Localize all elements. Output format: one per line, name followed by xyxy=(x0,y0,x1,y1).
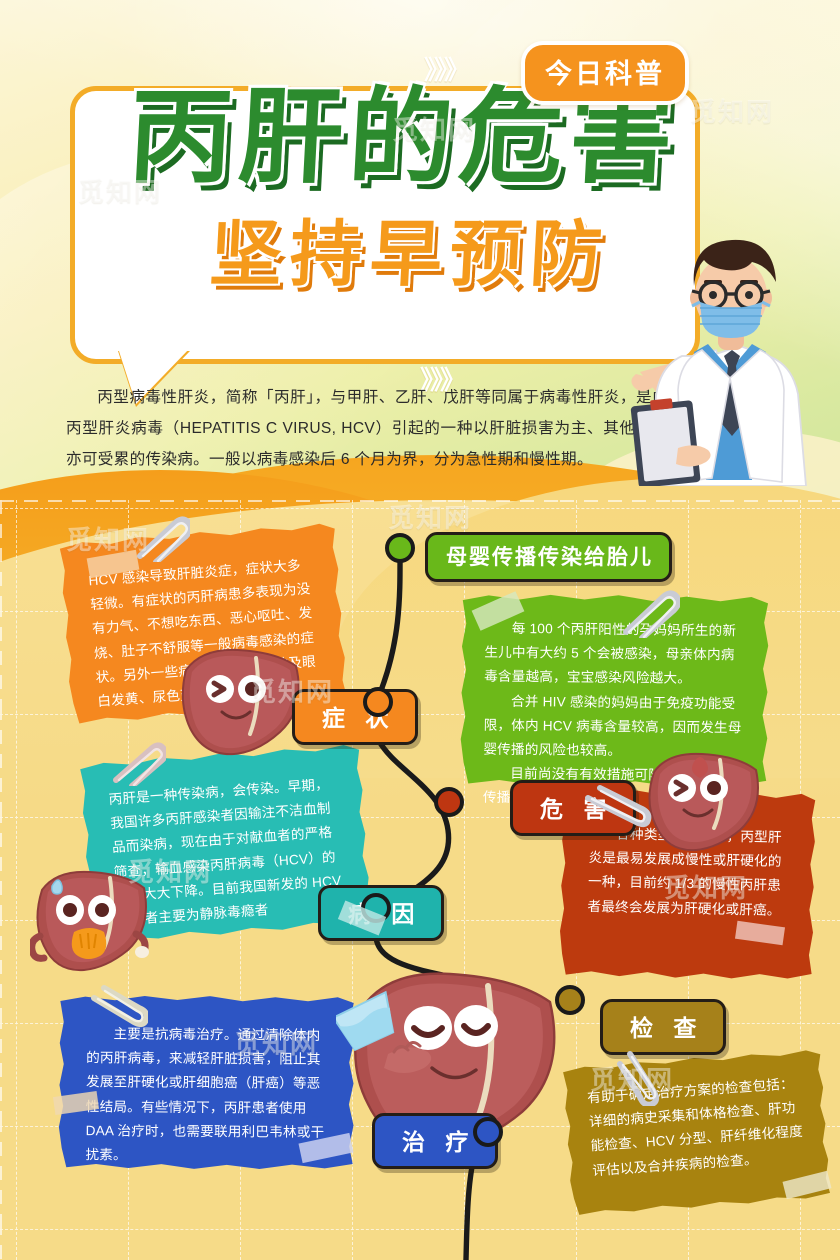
paperclip-icon-examination xyxy=(614,1048,666,1106)
paperclip-icon-cause xyxy=(108,742,166,786)
liver-mascot-smiling xyxy=(172,636,308,762)
paperclip-icon-symptom xyxy=(130,516,190,562)
chip-mtct[interactable]: 母婴传播传染给胎儿 xyxy=(425,532,672,582)
today-science-badge[interactable]: 今日科普 xyxy=(521,41,689,105)
page-subtitle: 坚持早预防 xyxy=(128,218,692,294)
liver-mascot-drinking xyxy=(336,962,584,1132)
poster-root: 》》》 今日科普 丙肝的危害 坚持早预防 》》》 丙型病毒性肝炎，简称「丙肝」，… xyxy=(0,0,840,1260)
liver-mascot-harm xyxy=(642,742,764,858)
chip-cause[interactable]: 病 因 xyxy=(318,885,444,941)
liver-mascot-gourd xyxy=(30,862,152,980)
chip-treatment[interactable]: 治 疗 xyxy=(372,1113,498,1169)
doctor-illustration xyxy=(620,224,840,486)
paperclip-icon-mtct xyxy=(618,590,680,638)
chip-symptom[interactable]: 症 状 xyxy=(292,689,418,745)
section-treatment-text: 主要是抗病毒治疗。通过清除体内的丙肝病毒，来减轻肝脏损害，阻止其发展至肝硬化或肝… xyxy=(85,1022,328,1169)
intro-paragraph: 丙型病毒性肝炎，简称「丙肝」，与甲肝、乙肝、戊肝等同属于病毒性肝炎，是由丙型肝炎… xyxy=(66,382,668,476)
chip-examination[interactable]: 检 查 xyxy=(600,999,726,1055)
paperclip-icon-treatment xyxy=(86,984,148,1030)
section-mtct-text-1: 每 100 个丙肝阳性的孕妈妈所生的新生儿中有大约 5 个会被感染，母亲体内病毒… xyxy=(484,617,745,692)
paperclip-icon-harm xyxy=(580,782,652,834)
